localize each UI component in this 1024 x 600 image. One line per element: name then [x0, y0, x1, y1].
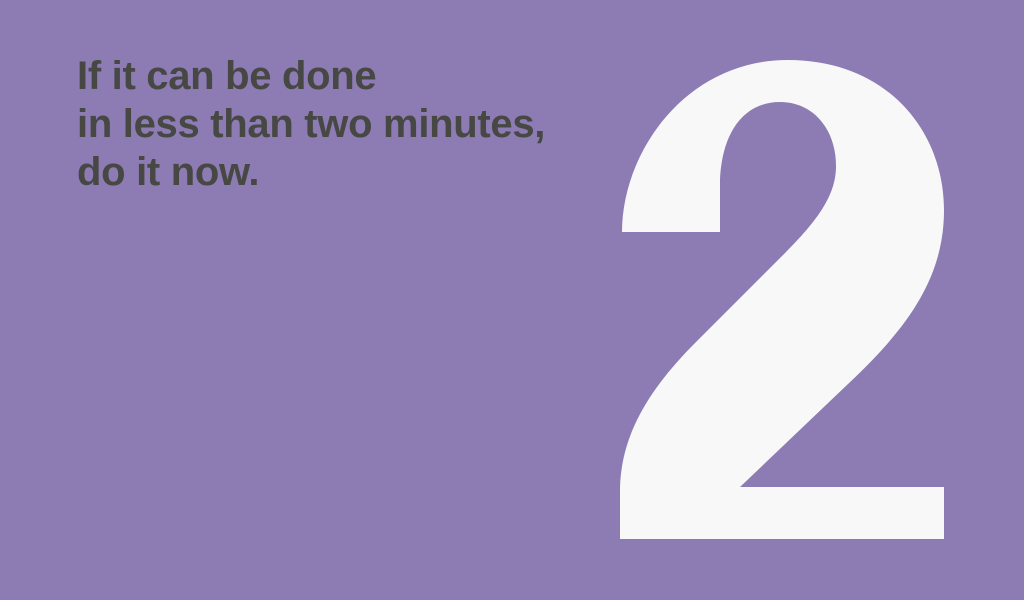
numeral-two: 2 [600, 40, 964, 560]
quote-line-3: do it now. [77, 148, 617, 196]
quote-line-1: If it can be done [77, 52, 617, 100]
quote-text: If it can be done in less than two minut… [77, 52, 617, 196]
quote-card: 2 If it can be done in less than two min… [0, 0, 1024, 600]
numeral-two-icon [600, 40, 964, 560]
quote-line-2: in less than two minutes, [77, 100, 617, 148]
